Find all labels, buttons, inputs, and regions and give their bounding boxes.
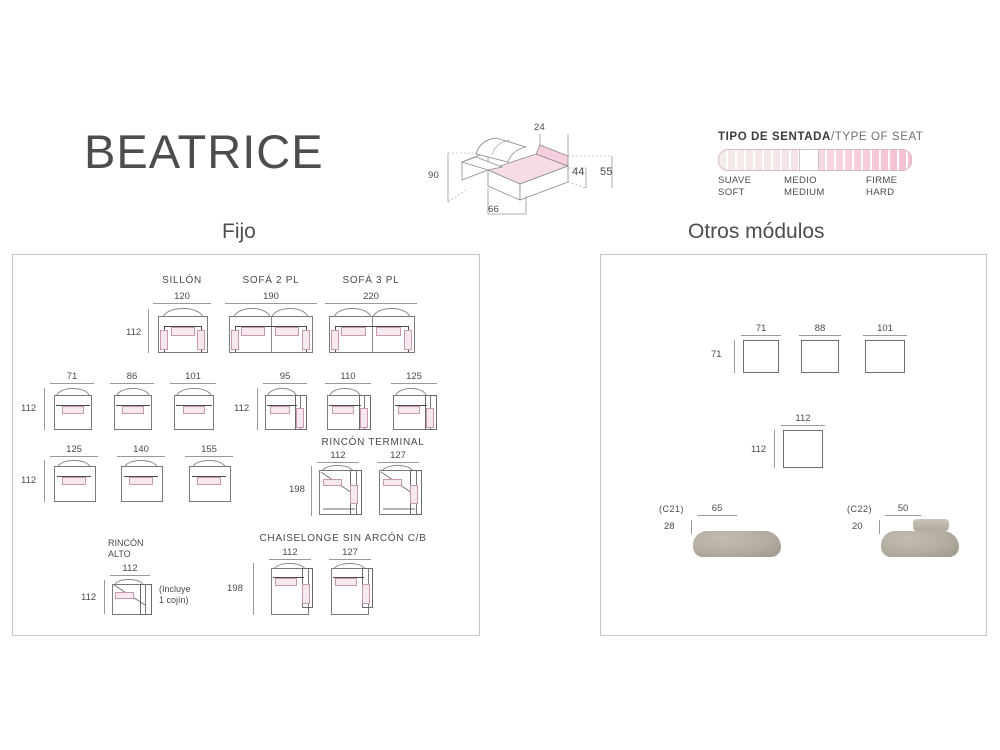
dim-onearm-110: 110 <box>325 371 371 384</box>
isometric-svg <box>440 126 620 226</box>
module-onearm-125 <box>393 388 439 430</box>
dim-puff-101: 101 <box>863 323 907 336</box>
dim-puff-large-width: 112 <box>781 413 825 426</box>
module-onearm-110 <box>327 388 373 430</box>
dim-row2left-depth: 112 <box>21 403 36 414</box>
dim-armless-86: 86 <box>110 371 154 384</box>
rincon-alto-note-line2: 1 cojín) <box>159 595 189 606</box>
module-sofa-2pl <box>227 308 315 353</box>
iso-dim-depth: 66 <box>488 204 499 215</box>
iso-dim-seat-height: 44 <box>572 166 585 178</box>
cushion-c22 <box>881 519 965 561</box>
module-puff-112 <box>783 430 823 468</box>
dim-wide-155: 155 <box>185 444 233 457</box>
module-armless-101 <box>174 388 214 430</box>
seat-type-title-es: TIPO DE SENTADA <box>718 131 831 143</box>
module-chaiselonge-127 <box>331 563 375 615</box>
page-title: BEATRICE <box>84 128 324 175</box>
module-chaiselonge-112 <box>271 563 315 615</box>
fijo-section-heading: Fijo <box>222 220 256 244</box>
dim-chaiselonge-127: 127 <box>329 547 371 560</box>
iso-dim-back-thickness: 24 <box>534 122 545 133</box>
label-rincon-alto-line1: RINCÓN <box>108 538 144 549</box>
seat-label-soft-en: SOFT <box>718 187 745 198</box>
cushion-c21 <box>693 527 781 559</box>
dim-wide-140: 140 <box>117 444 165 457</box>
seat-label-medium-es: MEDIO <box>784 175 817 186</box>
label-rincon-terminal: RINCÓN TERMINAL <box>311 437 435 448</box>
module-rincon-alto <box>112 579 156 615</box>
dim-sofa2-width: 190 <box>225 291 317 304</box>
dim-cushion-c22-width: 50 <box>885 503 921 516</box>
dim-sillon-width: 120 <box>153 291 211 304</box>
module-puff-88 <box>801 340 839 373</box>
module-rincon-terminal-127 <box>379 465 423 515</box>
dim-onearm-95: 95 <box>263 371 307 384</box>
dim-row3left-depth: 112 <box>21 475 36 486</box>
seat-type-title-en: TYPE OF SEAT <box>835 131 924 143</box>
dim-cushion-c21-height: 28 <box>664 521 675 532</box>
dim-rincon-terminal-127: 127 <box>377 450 419 463</box>
module-puff-71 <box>743 340 779 373</box>
dim-cushion-c22-height: 20 <box>852 521 863 532</box>
dim-puff-88: 88 <box>799 323 841 336</box>
dim-chaiselonge-112: 112 <box>269 547 311 560</box>
label-sofa-2pl: SOFÁ 2 PL <box>229 275 313 286</box>
label-rincon-alto-line2: ALTO <box>108 549 131 560</box>
label-chaiselonge: CHAISELONGE SIN ARCÓN C/B <box>253 533 433 544</box>
module-armless-86 <box>114 388 152 430</box>
label-cushion-c22-code: (C22) <box>847 504 872 515</box>
otros-section-heading: Otros módulos <box>688 220 825 244</box>
module-armless-71 <box>54 388 92 430</box>
seat-label-firm-en: HARD <box>866 187 894 198</box>
seat-label-soft-es: SUAVE <box>718 175 751 186</box>
module-puff-101 <box>865 340 905 373</box>
seat-type-labels: SUAVE SOFT MEDIO MEDIUM FIRME HARD <box>718 175 918 203</box>
module-sofa-3pl <box>327 308 417 353</box>
dim-cushion-c21-width: 65 <box>697 503 737 516</box>
panel-otros-modulos: 71 88 101 71 112 112 (C21) 65 28 (C22) 5… <box>600 254 987 636</box>
dim-puff-large-depth: 112 <box>751 444 766 455</box>
iso-dim-arm-height: 55 <box>600 166 613 178</box>
module-onearm-95 <box>265 388 309 430</box>
seat-type-legend: TIPO DE SENTADA/TYPE OF SEAT SUAVE SOFT … <box>718 131 928 203</box>
dim-onearm-125: 125 <box>391 371 437 384</box>
label-cushion-c21-code: (C21) <box>659 504 684 515</box>
dim-row1-depth: 112 <box>126 327 141 338</box>
module-wide-155 <box>189 460 231 502</box>
dim-sofa3-width: 220 <box>325 291 417 304</box>
dim-wide-125: 125 <box>50 444 98 457</box>
seat-label-firm: FIRME HARD <box>866 175 897 199</box>
dim-row2right-depth: 112 <box>234 403 249 414</box>
seat-label-medium-en: MEDIUM <box>784 187 825 198</box>
panel-fijo: SILLÓN 120 SOFÁ 2 PL 190 SOFÁ 3 PL 220 <box>12 254 480 636</box>
seat-label-firm-es: FIRME <box>866 175 897 186</box>
dim-rincon-alto-depth: 112 <box>81 592 96 603</box>
dim-armless-71: 71 <box>50 371 94 384</box>
rincon-alto-note-line1: (Incluye <box>159 584 191 595</box>
dim-armless-101: 101 <box>170 371 216 384</box>
slider-handle[interactable] <box>799 149 819 171</box>
dim-chaiselonge-depth: 198 <box>227 583 243 594</box>
dim-rincon-terminal-112: 112 <box>317 450 359 463</box>
isometric-module-diagram: 90 66 24 44 55 <box>440 126 620 226</box>
module-rincon-terminal-112 <box>319 465 363 515</box>
seat-label-medium: MEDIO MEDIUM <box>784 175 825 199</box>
seat-firmness-slider[interactable] <box>718 149 912 171</box>
dim-puffs-depth: 71 <box>711 349 722 360</box>
label-sofa-3pl: SOFÁ 3 PL <box>329 275 413 286</box>
label-sillon: SILLÓN <box>147 275 217 286</box>
dim-rincon-alto-width: 112 <box>110 563 150 576</box>
dim-puff-71: 71 <box>741 323 781 336</box>
module-wide-140 <box>121 460 163 502</box>
module-wide-125 <box>54 460 96 502</box>
iso-dim-height: 90 <box>428 170 439 181</box>
module-sillon <box>156 308 210 353</box>
seat-label-soft: SUAVE SOFT <box>718 175 751 199</box>
dim-rincon-terminal-depth: 198 <box>289 484 305 495</box>
seat-type-title: TIPO DE SENTADA/TYPE OF SEAT <box>718 131 928 143</box>
